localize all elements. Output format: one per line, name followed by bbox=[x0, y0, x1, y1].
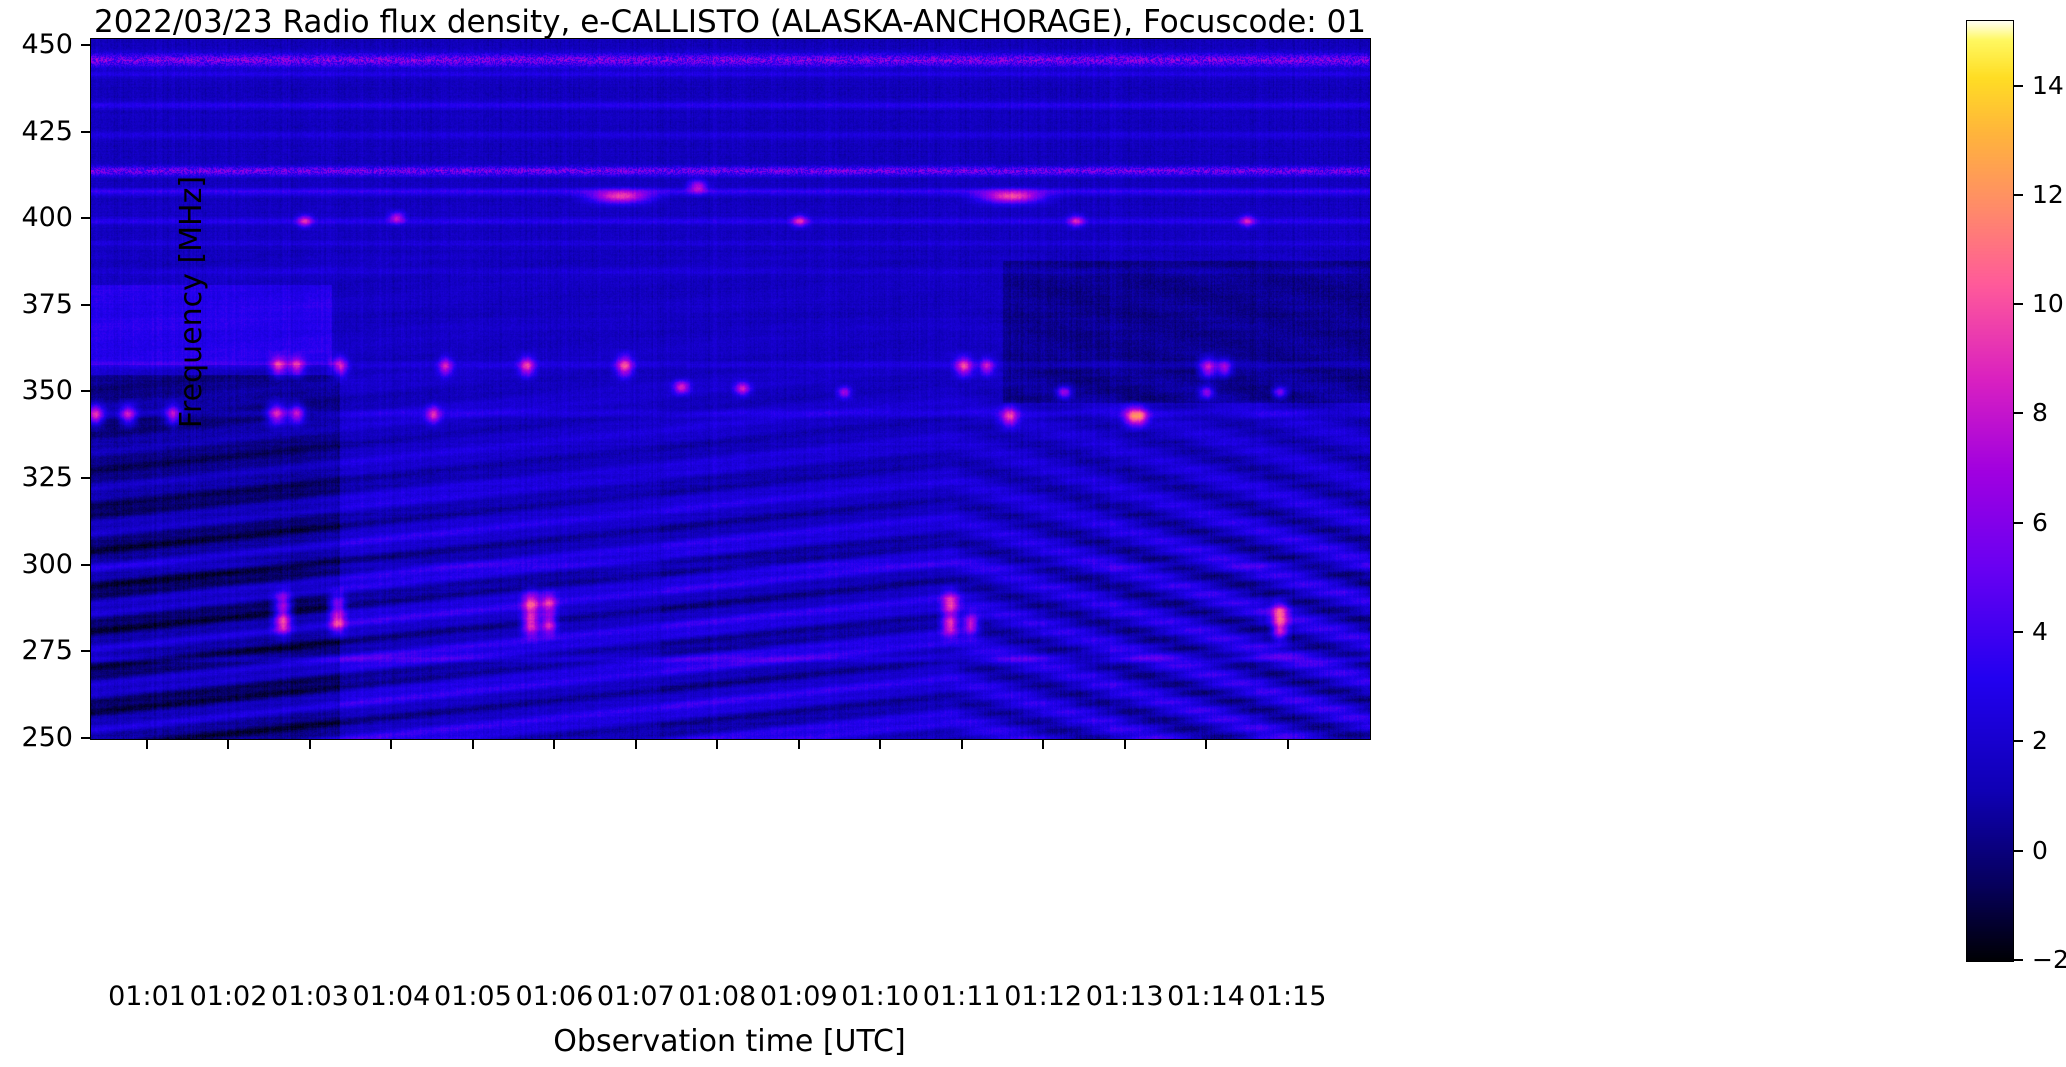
y-tick-mark bbox=[81, 131, 90, 133]
y-tick-mark bbox=[81, 44, 90, 46]
x-tick-mark bbox=[553, 740, 555, 749]
colorbar-tick-mark bbox=[2014, 850, 2023, 852]
colorbar-tick-mark bbox=[2014, 631, 2023, 633]
colorbar-tick-label: 8 bbox=[2032, 400, 2066, 425]
y-tick-mark bbox=[81, 390, 90, 392]
colorbar-gradient bbox=[1967, 21, 2013, 961]
y-tick-label: 450 bbox=[0, 31, 73, 58]
y-tick-mark bbox=[81, 737, 90, 739]
colorbar-tick-mark bbox=[2014, 522, 2023, 524]
colorbar-tick-mark bbox=[2014, 194, 2023, 196]
y-tick-label: 375 bbox=[0, 291, 73, 318]
colorbar-tick-mark bbox=[2014, 303, 2023, 305]
x-tick-mark bbox=[635, 740, 637, 749]
y-axis-label: Frequency [MHz] bbox=[172, 92, 212, 512]
y-tick-mark bbox=[81, 477, 90, 479]
y-tick-mark bbox=[81, 650, 90, 652]
colorbar-tick-label: −2 bbox=[2032, 947, 2066, 972]
colorbar-tick-mark bbox=[2014, 959, 2023, 961]
colorbar-tick-label: 6 bbox=[2032, 510, 2066, 535]
x-tick-mark bbox=[1124, 740, 1126, 749]
colorbar-tick-mark bbox=[2014, 85, 2023, 87]
figure-root: 2022/03/23 Radio flux density, e-CALLIST… bbox=[0, 0, 2066, 1067]
x-tick-mark bbox=[1205, 740, 1207, 749]
x-tick-mark bbox=[798, 740, 800, 749]
colorbar-tick-label: 2 bbox=[2032, 728, 2066, 753]
x-tick-mark bbox=[1287, 740, 1289, 749]
colorbar bbox=[1966, 20, 2014, 962]
y-tick-label: 275 bbox=[0, 637, 73, 664]
x-tick-mark bbox=[716, 740, 718, 749]
y-tick-label: 350 bbox=[0, 377, 73, 404]
y-tick-label: 425 bbox=[0, 118, 73, 145]
x-axis-label: Observation time [UTC] bbox=[90, 1022, 1369, 1062]
spectrogram-canvas bbox=[91, 39, 1370, 739]
y-tick-label: 400 bbox=[0, 204, 73, 231]
colorbar-tick-mark bbox=[2014, 412, 2023, 414]
x-tick-mark bbox=[390, 740, 392, 749]
colorbar-tick-label: 10 bbox=[2032, 291, 2066, 316]
x-tick-mark bbox=[472, 740, 474, 749]
y-tick-mark bbox=[81, 217, 90, 219]
colorbar-tick-label: 12 bbox=[2032, 182, 2066, 207]
x-tick-mark bbox=[1042, 740, 1044, 749]
colorbar-tick-label: 4 bbox=[2032, 619, 2066, 644]
x-tick-mark bbox=[961, 740, 963, 749]
x-tick-mark bbox=[146, 740, 148, 749]
colorbar-tick-label: 0 bbox=[2032, 838, 2066, 863]
y-tick-label: 250 bbox=[0, 724, 73, 751]
x-tick-mark bbox=[309, 740, 311, 749]
figure-title: 2022/03/23 Radio flux density, e-CALLIST… bbox=[90, 4, 1370, 40]
x-tick-mark bbox=[227, 740, 229, 749]
y-tick-label: 300 bbox=[0, 551, 73, 578]
y-tick-label: 325 bbox=[0, 464, 73, 491]
colorbar-tick-mark bbox=[2014, 740, 2023, 742]
y-tick-mark bbox=[81, 564, 90, 566]
spectrogram-plot[interactable] bbox=[90, 38, 1371, 740]
x-tick-label: 01:15 bbox=[1218, 982, 1358, 1012]
y-tick-mark bbox=[81, 304, 90, 306]
colorbar-tick-label: 14 bbox=[2032, 73, 2066, 98]
x-tick-mark bbox=[879, 740, 881, 749]
